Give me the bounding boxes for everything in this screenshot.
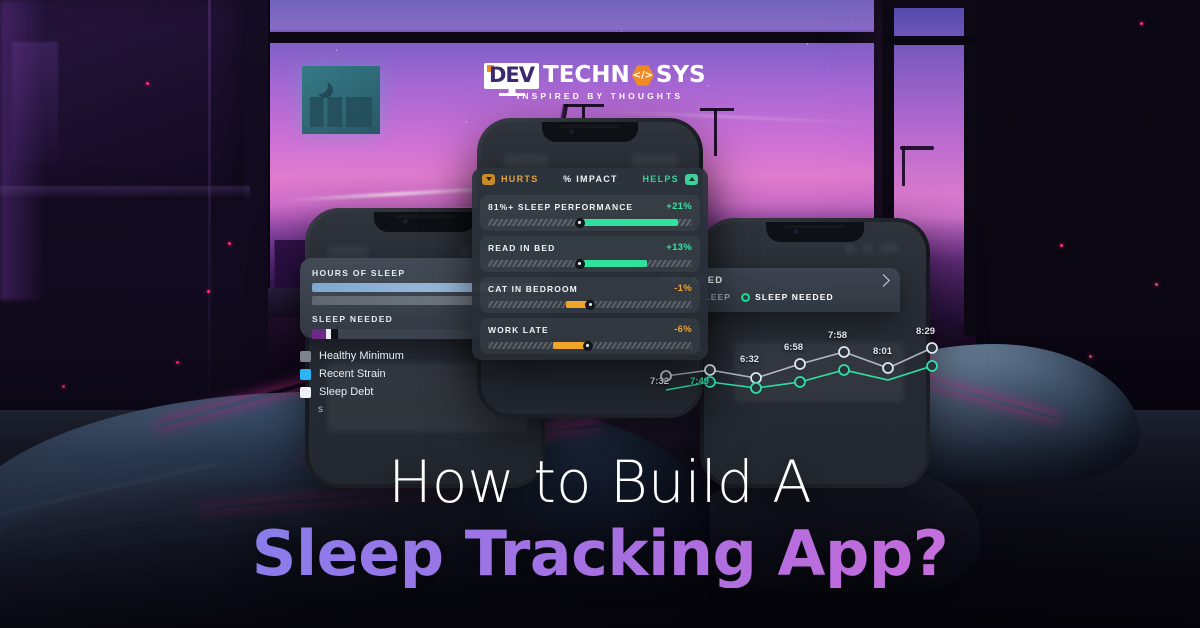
logo-sys-text: SYS: [656, 64, 706, 87]
impact-row-name: WORK LATE: [488, 325, 549, 335]
legend-label: Healthy Minimum: [319, 350, 404, 362]
point-label: 8:01: [873, 346, 892, 357]
impact-row-name: READ IN BED: [488, 243, 555, 253]
impact-row[interactable]: WORK LATE -6%: [480, 318, 700, 354]
earpiece-speaker: [395, 215, 455, 218]
legend-sleep-needed[interactable]: SLEEP NEEDED: [741, 292, 834, 302]
chart-legend-left: Healthy Minimum Recent Strain Sleep Debt: [300, 350, 460, 404]
front-camera-icon: [569, 129, 574, 134]
impact-panel-header: HURTS % IMPACT HELPS: [480, 168, 700, 190]
data-point[interactable]: [751, 373, 761, 383]
impact-row-value: +13%: [666, 242, 692, 253]
chevron-up-icon[interactable]: [685, 174, 698, 185]
impact-row-name: CAT IN BEDROOM: [488, 284, 578, 294]
data-point[interactable]: [751, 383, 761, 393]
impact-slider[interactable]: [488, 342, 692, 349]
chevron-down-icon[interactable]: [482, 174, 495, 185]
impact-row-value: -1%: [674, 283, 692, 294]
legend-label: Recent Strain: [319, 368, 386, 380]
slider-fill: [580, 219, 678, 226]
dev-monitor-icon: DEV: [484, 63, 539, 89]
earpiece-speaker: [785, 225, 845, 228]
slider-knob[interactable]: [585, 300, 595, 310]
point-label: 7:49: [690, 376, 709, 387]
code-glyph: </>: [633, 70, 653, 81]
data-point[interactable]: [927, 361, 937, 371]
legend-sleep-needed-label: SLEEP NEEDED: [755, 292, 834, 302]
impact-slider[interactable]: [488, 219, 692, 226]
legend-swatch-recent-strain: [300, 369, 311, 380]
slider-knob[interactable]: [575, 259, 585, 269]
ring-marker-icon: [741, 293, 750, 302]
headline-block: How to Build A Sleep Tracking App?: [0, 452, 1200, 588]
logo-dev-text: DEV: [489, 65, 534, 86]
hurts-label: HURTS: [501, 174, 539, 184]
code-hex-icon: </>: [632, 65, 654, 87]
logo-techno-text: TECHN: [543, 64, 630, 87]
data-point[interactable]: [795, 359, 805, 369]
chevron-right-icon[interactable]: [877, 274, 890, 287]
impact-row-name: 81%+ SLEEP PERFORMANCE: [488, 202, 633, 212]
impact-row[interactable]: READ IN BED +13%: [480, 236, 700, 272]
impact-slider[interactable]: [488, 301, 692, 308]
point-label: 7:58: [828, 330, 847, 341]
data-point[interactable]: [839, 365, 849, 375]
impact-row[interactable]: 81%+ SLEEP PERFORMANCE +21%: [480, 195, 700, 231]
point-label: 6:58: [784, 342, 803, 353]
front-camera-icon: [794, 229, 799, 234]
legend-item[interactable]: Recent Strain: [300, 368, 460, 380]
impact-row-value: +21%: [666, 201, 692, 212]
point-label: 7:32: [650, 376, 669, 387]
legend-label: Sleep Debt: [319, 386, 373, 398]
point-label: 8:29: [916, 326, 935, 337]
point-label: 6:32: [740, 354, 759, 365]
legend-item[interactable]: Healthy Minimum: [300, 350, 460, 362]
legend-item[interactable]: Sleep Debt: [300, 386, 460, 398]
legend-swatch-healthy-minimum: [300, 351, 311, 362]
headline-line-1: How to Build A: [0, 452, 1200, 513]
legend-swatch-sleep-debt: [300, 387, 311, 398]
slider-fill: [580, 260, 647, 267]
promo-banner: HOURS OF SLEEP SLEEP NEEDED Healthy Mini…: [0, 0, 1200, 628]
impact-slider[interactable]: [488, 260, 692, 267]
legend-subtext: s: [318, 404, 323, 415]
logo-tagline: INSPIRED BY THOUGHTS: [484, 91, 716, 101]
helps-group[interactable]: HELPS: [642, 174, 698, 185]
front-camera-icon: [403, 219, 408, 224]
earpiece-speaker: [560, 125, 620, 128]
brand-logo[interactable]: DEV TECHN </> SYS INSPIRED BY THOUGHTS: [484, 62, 716, 102]
impact-row[interactable]: CAT IN BEDROOM -1%: [480, 277, 700, 313]
impact-row-value: -6%: [674, 324, 692, 335]
data-point[interactable]: [839, 347, 849, 357]
impact-label: % IMPACT: [563, 174, 618, 184]
helps-label: HELPS: [642, 174, 679, 184]
impact-panel: HURTS % IMPACT HELPS 81%+ SLEEP PERFORMA…: [472, 168, 708, 360]
data-point[interactable]: [705, 365, 715, 375]
data-point[interactable]: [927, 343, 937, 353]
hurts-group[interactable]: HURTS: [482, 174, 539, 185]
slider-knob[interactable]: [583, 341, 593, 351]
slider-knob[interactable]: [575, 218, 585, 228]
data-point[interactable]: [883, 363, 893, 373]
logo-wordmark: DEV TECHN </> SYS: [484, 62, 716, 89]
headline-line-2: Sleep Tracking App?: [0, 519, 1200, 588]
data-point[interactable]: [795, 377, 805, 387]
